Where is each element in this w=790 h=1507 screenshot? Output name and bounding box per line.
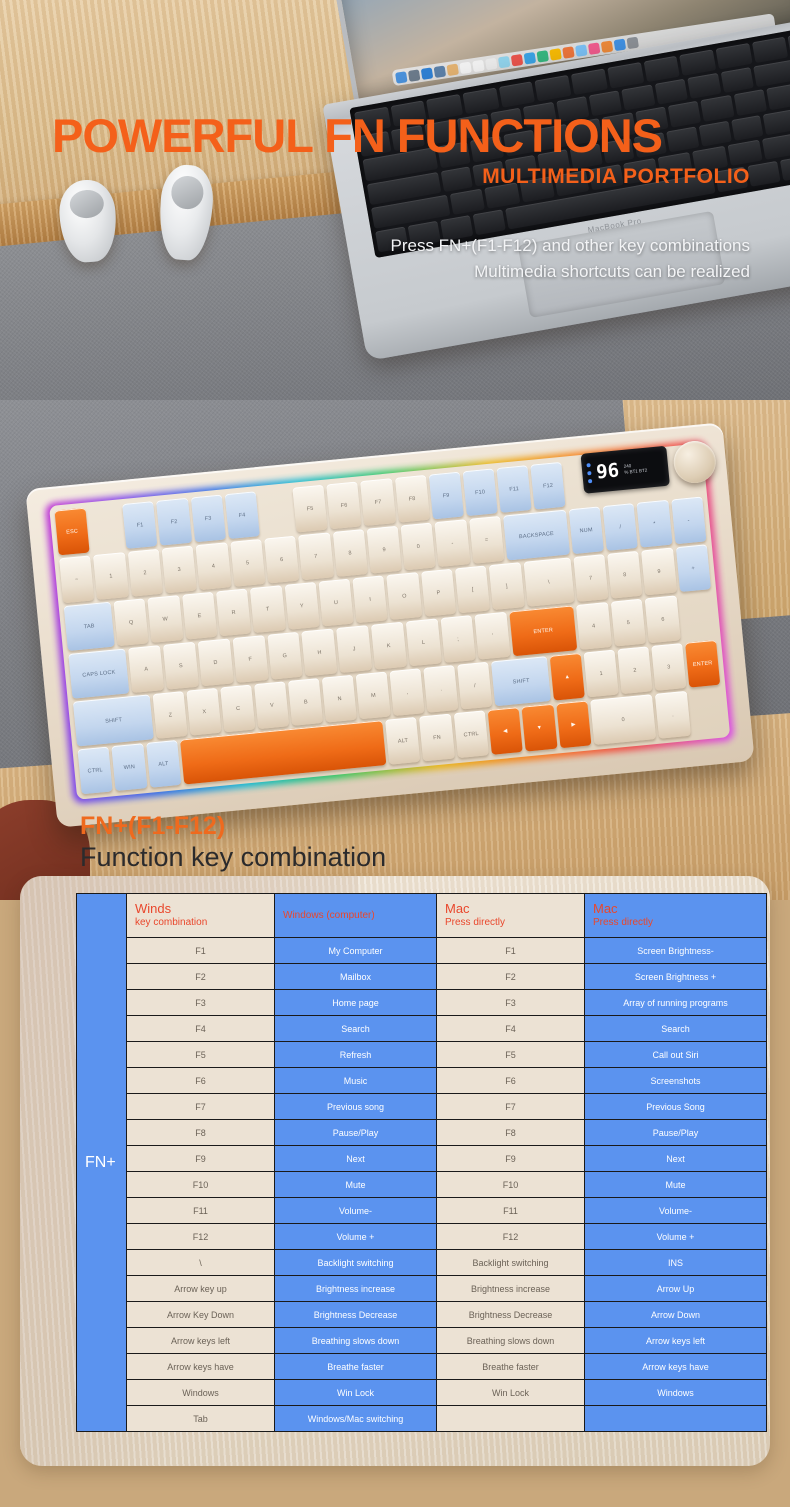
key-f[interactable]: F — [232, 635, 268, 683]
cell-mac-action: Windows — [585, 1380, 767, 1406]
key-l[interactable]: L — [405, 618, 441, 666]
hero-subheadline: MULTIMEDIA PORTFOLIO — [0, 165, 750, 189]
header-winds: Winds key combination — [127, 894, 275, 938]
key-tilde[interactable]: ~ — [59, 555, 94, 603]
key-equal[interactable]: = — [469, 516, 504, 564]
hero-promo-text: Press FN+(F1-F12) and other key combinat… — [0, 233, 750, 284]
fn-label-cell: FN+ — [77, 894, 127, 1432]
key-9[interactable]: 9 — [366, 526, 401, 574]
cell-windows-action: Windows/Mac switching — [275, 1406, 437, 1432]
key-6[interactable]: 6 — [264, 536, 299, 584]
cell-windows-action: Volume- — [275, 1198, 437, 1224]
key-i[interactable]: I — [353, 575, 388, 623]
key-tab[interactable]: TAB — [64, 602, 115, 651]
cell-winds-key: Windows — [127, 1380, 275, 1406]
cell-mac-key: F8 — [437, 1120, 585, 1146]
key-num[interactable]: NUM — [568, 506, 603, 554]
cell-winds-key: \ — [127, 1250, 275, 1276]
hero-headline: POWERFUL FN FUNCTIONS — [52, 112, 762, 159]
keyboard-deck: ESC F1 F2 F3 F4 F5 F6 F7 F8 F9 F10 F11 F… — [49, 443, 730, 800]
key-ctrl-left[interactable]: CTRL — [77, 747, 112, 795]
cell-windows-action: Mute — [275, 1172, 437, 1198]
cell-mac-action: Call out Siri — [585, 1042, 767, 1068]
cell-mac-action: Next — [585, 1146, 767, 1172]
key-w[interactable]: W — [148, 595, 183, 643]
cell-windows-action: Previous song — [275, 1094, 437, 1120]
cell-mac-key: F10 — [437, 1172, 585, 1198]
cell-mac-key: F7 — [437, 1094, 585, 1120]
cell-mac-key: Breathe faster — [437, 1354, 585, 1380]
key-enter[interactable]: ENTER — [509, 605, 577, 656]
oled-status-dots — [586, 463, 592, 483]
cell-mac-key: F6 — [437, 1068, 585, 1094]
key-m[interactable]: M — [356, 672, 391, 720]
table-row: F1My ComputerF1Screen Brightness- — [77, 938, 767, 964]
key-2[interactable]: 2 — [127, 549, 162, 597]
key-numpad-dot[interactable]: . — [655, 691, 690, 739]
key-x[interactable]: X — [187, 688, 222, 736]
key-quote[interactable]: ' — [475, 612, 511, 660]
table-row: \Backlight switchingBacklight switchingI… — [77, 1250, 767, 1276]
cell-mac-key: Breathing slows down — [437, 1328, 585, 1354]
key-alt-left[interactable]: ALT — [146, 740, 181, 788]
table-row: F2MailboxF2Screen Brightness + — [77, 964, 767, 990]
section-subtitle: Function key combination — [80, 842, 386, 873]
cell-mac-action: Pause/Play — [585, 1120, 767, 1146]
key-numpad-9[interactable]: 9 — [641, 548, 676, 596]
key-shift-right[interactable]: SHIFT — [491, 656, 551, 706]
key-f6[interactable]: F6 — [326, 481, 361, 529]
mechanical-keyboard: ESC F1 F2 F3 F4 F5 F6 F7 F8 F9 F10 F11 F… — [25, 422, 754, 828]
key-c[interactable]: C — [221, 685, 256, 733]
cell-windows-action: Brightness Decrease — [275, 1302, 437, 1328]
oled-value: 96 — [595, 461, 620, 482]
key-t[interactable]: T — [250, 585, 285, 633]
cell-winds-key: F6 — [127, 1068, 275, 1094]
header-mac-subtitle: Press directly — [445, 917, 582, 929]
key-f5[interactable]: F5 — [292, 485, 327, 533]
key-f8[interactable]: F8 — [394, 475, 429, 523]
key-spacer — [88, 504, 123, 552]
key-q[interactable]: Q — [113, 598, 148, 646]
key-f3[interactable]: F3 — [190, 495, 225, 543]
key-r[interactable]: R — [216, 589, 251, 637]
key-numpad-1[interactable]: 1 — [584, 650, 619, 698]
header-windows-title: Windows (computer) — [283, 910, 434, 922]
cell-mac-action: Search — [585, 1016, 767, 1042]
header-winds-title: Winds — [135, 902, 272, 917]
cell-mac-action: Arrow keys left — [585, 1328, 767, 1354]
cell-mac-key: F12 — [437, 1224, 585, 1250]
key-e[interactable]: E — [182, 592, 217, 640]
key-j[interactable]: J — [336, 625, 372, 673]
table-row: WindowsWin LockWin LockWindows — [77, 1380, 767, 1406]
cell-winds-key: F12 — [127, 1224, 275, 1250]
header-mac-title: Mac — [445, 902, 582, 917]
key-b[interactable]: B — [288, 678, 323, 726]
cell-windows-action: Breathe faster — [275, 1354, 437, 1380]
header-winds-subtitle: key combination — [135, 917, 272, 929]
key-spacer-8 — [689, 688, 724, 736]
key-0[interactable]: 0 — [401, 523, 436, 571]
cell-mac-action: Volume- — [585, 1198, 767, 1224]
cell-windows-action: Next — [275, 1146, 437, 1172]
key-f12[interactable]: F12 — [530, 462, 565, 510]
key-a[interactable]: A — [128, 645, 164, 693]
cell-windows-action: Search — [275, 1016, 437, 1042]
key-numpad-plus[interactable]: + — [675, 544, 710, 592]
key-numpad-3[interactable]: 3 — [651, 643, 686, 691]
key-arrow-down[interactable]: ▼ — [522, 704, 557, 752]
cell-mac-action: INS — [585, 1250, 767, 1276]
cell-winds-key: F10 — [127, 1172, 275, 1198]
key-period[interactable]: . — [424, 665, 459, 713]
key-z[interactable]: Z — [153, 691, 188, 739]
cell-winds-key: Arrow keys have — [127, 1354, 275, 1380]
key-numpad-minus[interactable]: - — [671, 496, 706, 544]
key-ctrl-right[interactable]: CTRL — [453, 710, 488, 758]
cell-winds-key: F4 — [127, 1016, 275, 1042]
fn-combination-table: FN+ Winds key combination Windows (compu… — [76, 893, 767, 1432]
key-p[interactable]: P — [421, 569, 456, 617]
cell-windows-action: Mailbox — [275, 964, 437, 990]
cell-mac-action: Mute — [585, 1172, 767, 1198]
cell-winds-key: F8 — [127, 1120, 275, 1146]
cell-winds-key: F7 — [127, 1094, 275, 1120]
table-row: F8Pause/PlayF8Pause/Play — [77, 1120, 767, 1146]
table-row: TabWindows/Mac switching — [77, 1406, 767, 1432]
key-alt-right[interactable]: ALT — [385, 717, 420, 765]
cell-mac-key: Backlight switching — [437, 1250, 585, 1276]
table-row: Arrow keys haveBreathe fasterBreathe fas… — [77, 1354, 767, 1380]
oled-sub-labels: 240 % BT1 BT2 — [624, 462, 648, 476]
key-numpad-2[interactable]: 2 — [617, 646, 652, 694]
key-f1[interactable]: F1 — [122, 501, 157, 549]
cell-winds-key: F3 — [127, 990, 275, 1016]
key-numpad-enter[interactable]: ENTER — [685, 640, 720, 688]
key-d[interactable]: D — [198, 638, 234, 686]
table-row: Arrow keys leftBreathing slows downBreat… — [77, 1328, 767, 1354]
cell-windows-action: Volume + — [275, 1224, 437, 1250]
key-numpad-8[interactable]: 8 — [607, 551, 642, 599]
key-arrow-left[interactable]: ◀ — [488, 707, 523, 755]
key-o[interactable]: O — [387, 572, 422, 620]
cell-mac-key: Brightness increase — [437, 1276, 585, 1302]
cell-mac-action: Screen Brightness + — [585, 964, 767, 990]
cell-windows-action: Brightness increase — [275, 1276, 437, 1302]
cell-winds-key: Arrow key up — [127, 1276, 275, 1302]
key-f7[interactable]: F7 — [360, 478, 395, 526]
table-header-row: FN+ Winds key combination Windows (compu… — [77, 894, 767, 938]
hero-banner: MacBook Pro POWERFUL FN FUNCTIONS MULTIM… — [0, 0, 790, 440]
key-arrow-right[interactable]: ▶ — [556, 700, 591, 748]
header-windows-computer: Windows (computer) — [275, 894, 437, 938]
table-row: F6MusicF6Screenshots — [77, 1068, 767, 1094]
header-mac-blue: Mac Press directly — [585, 894, 767, 938]
cell-mac-key: Win Lock — [437, 1380, 585, 1406]
cell-windows-action: My Computer — [275, 938, 437, 964]
key-s[interactable]: S — [163, 642, 199, 690]
key-u[interactable]: U — [318, 579, 353, 627]
table-row: Arrow key upBrightness increaseBrightnes… — [77, 1276, 767, 1302]
promo-line-2: Multimedia shortcuts can be realized — [474, 262, 750, 281]
cell-winds-key: Tab — [127, 1406, 275, 1432]
header-mac-beige: Mac Press directly — [437, 894, 585, 938]
cell-mac-key — [437, 1406, 585, 1432]
table-row: Arrow Key DownBrightness DecreaseBrightn… — [77, 1302, 767, 1328]
table-row: F7Previous songF7Previous Song — [77, 1094, 767, 1120]
key-caps-lock[interactable]: CAPS LOCK — [68, 648, 129, 698]
key-n[interactable]: N — [322, 675, 357, 723]
key-win-left[interactable]: WIN — [112, 743, 147, 791]
cell-mac-action: Screen Brightness- — [585, 938, 767, 964]
key-numpad-4[interactable]: 4 — [576, 602, 612, 650]
promo-line-1: Press FN+(F1-F12) and other key combinat… — [390, 236, 750, 255]
cell-mac-action: Arrow Down — [585, 1302, 767, 1328]
table-row: F5RefreshF5Call out Siri — [77, 1042, 767, 1068]
cell-mac-key: F11 — [437, 1198, 585, 1224]
cell-windows-action: Win Lock — [275, 1380, 437, 1406]
table-row: F4SearchF4Search — [77, 1016, 767, 1042]
cell-windows-action: Music — [275, 1068, 437, 1094]
cell-mac-action: Arrow keys have — [585, 1354, 767, 1380]
oled-sub-2: % BT1 BT2 — [624, 468, 647, 475]
key-y[interactable]: Y — [284, 582, 319, 630]
key-1[interactable]: 1 — [93, 552, 128, 600]
cell-windows-action: Breathing slows down — [275, 1328, 437, 1354]
cell-winds-key: F11 — [127, 1198, 275, 1224]
cell-mac-action: Previous Song — [585, 1094, 767, 1120]
key-numpad-7[interactable]: 7 — [573, 554, 608, 602]
key-numpad-star[interactable]: * — [637, 500, 672, 548]
key-spacer-2 — [258, 488, 293, 536]
key-f4[interactable]: F4 — [224, 491, 259, 539]
key-semicolon[interactable]: ; — [440, 615, 476, 663]
table-row: F9NextF9Next — [77, 1146, 767, 1172]
key-spacer-7 — [680, 592, 716, 640]
key-f9[interactable]: F9 — [428, 472, 463, 520]
key-7[interactable]: 7 — [298, 532, 333, 580]
key-5[interactable]: 5 — [230, 539, 265, 587]
table-body: FN+ Winds key combination Windows (compu… — [77, 894, 767, 1432]
cell-mac-action: Screenshots — [585, 1068, 767, 1094]
key-numpad-6[interactable]: 6 — [645, 595, 681, 643]
cell-mac-key: F5 — [437, 1042, 585, 1068]
key-comma[interactable]: , — [390, 668, 425, 716]
cell-mac-action: Volume + — [585, 1224, 767, 1250]
key-f2[interactable]: F2 — [156, 498, 191, 546]
cell-winds-key: Arrow keys left — [127, 1328, 275, 1354]
key-f10[interactable]: F10 — [462, 468, 497, 516]
header-mac2-title: Mac — [593, 902, 764, 917]
cell-mac-key: F9 — [437, 1146, 585, 1172]
cell-mac-action: Arrow Up — [585, 1276, 767, 1302]
table-row: F3Home pageF3Array of running programs — [77, 990, 767, 1016]
key-fn[interactable]: FN — [419, 714, 454, 762]
key-numpad-5[interactable]: 5 — [610, 599, 646, 647]
key-f11[interactable]: F11 — [496, 465, 531, 513]
cell-windows-action: Pause/Play — [275, 1120, 437, 1146]
cell-winds-key: F5 — [127, 1042, 275, 1068]
cell-mac-key: F1 — [437, 938, 585, 964]
oled-display: 96 240 % BT1 BT2 — [580, 446, 669, 494]
key-shift-left[interactable]: SHIFT — [73, 694, 154, 746]
key-h[interactable]: H — [302, 628, 338, 676]
key-bracket-left[interactable]: [ — [455, 566, 490, 614]
key-arrow-up[interactable]: ▲ — [550, 653, 585, 701]
key-g[interactable]: G — [267, 632, 303, 680]
key-backslash[interactable]: \ — [523, 557, 574, 606]
table-row: F12Volume +F12Volume + — [77, 1224, 767, 1250]
cell-winds-key: F1 — [127, 938, 275, 964]
cell-mac-key: Brightness Decrease — [437, 1302, 585, 1328]
oled-sub-1: 240 — [624, 463, 632, 469]
key-numpad-0[interactable]: 0 — [590, 694, 657, 745]
cell-winds-key: F2 — [127, 964, 275, 990]
key-v[interactable]: V — [254, 681, 289, 729]
cell-mac-key: F3 — [437, 990, 585, 1016]
key-dash[interactable]: - — [435, 519, 470, 567]
cell-mac-key: F2 — [437, 964, 585, 990]
cell-mac-action: Array of running programs — [585, 990, 767, 1016]
key-numpad-slash[interactable]: / — [603, 503, 638, 551]
key-slash[interactable]: / — [457, 662, 492, 710]
cell-windows-action: Backlight switching — [275, 1250, 437, 1276]
cell-mac-key: F4 — [437, 1016, 585, 1042]
table-row: F11Volume-F11Volume- — [77, 1198, 767, 1224]
key-backspace[interactable]: BACKSPACE — [503, 510, 570, 561]
cell-winds-key: Arrow Key Down — [127, 1302, 275, 1328]
cell-windows-action: Refresh — [275, 1042, 437, 1068]
table-row: F10MuteF10Mute — [77, 1172, 767, 1198]
key-k[interactable]: K — [371, 622, 407, 670]
header-mac2-subtitle: Press directly — [593, 917, 764, 929]
key-4[interactable]: 4 — [196, 542, 231, 590]
section-title: FN+(F1-F12) — [80, 812, 225, 841]
cell-mac-action — [585, 1406, 767, 1432]
key-3[interactable]: 3 — [162, 546, 197, 594]
key-esc[interactable]: ESC — [54, 508, 89, 556]
cell-winds-key: F9 — [127, 1146, 275, 1172]
cell-windows-action: Home page — [275, 990, 437, 1016]
key-8[interactable]: 8 — [332, 529, 367, 577]
key-bracket-right[interactable]: ] — [489, 562, 524, 610]
